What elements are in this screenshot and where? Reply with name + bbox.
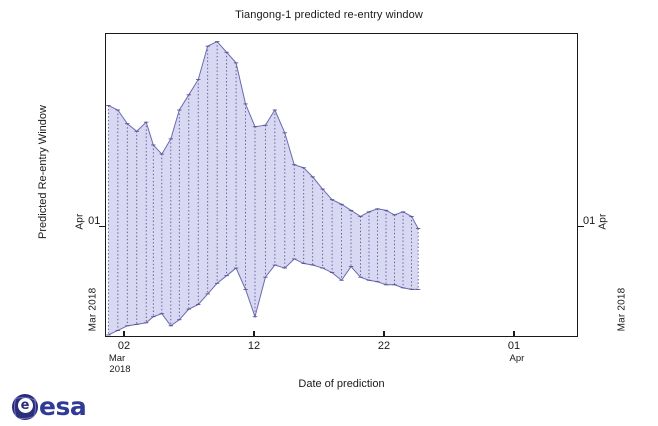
y-tick-right-apr: 01Apr (583, 215, 611, 227)
y-tick-left-mar-month: Mar 2018 (87, 288, 98, 332)
uncertainty-band (108, 42, 418, 335)
y-tick-left-apr-month: Apr (75, 213, 86, 229)
esa-logo: e esa (12, 392, 108, 422)
reentry-window-band-svg (106, 34, 578, 337)
x-tick-day: 22 (378, 340, 390, 352)
y-tick-left-apr: Apr01 (72, 215, 100, 227)
esa-wordmark: esa (39, 394, 86, 420)
x-tick-label: 01Apr (484, 341, 544, 364)
y-tick-right-apr-month: Apr (598, 213, 609, 229)
x-tick-day: 02 (118, 340, 130, 352)
y-tick-right-mar: Mar 2018 (600, 303, 644, 315)
x-tick-day: 12 (248, 340, 260, 352)
x-tick-mark (383, 331, 384, 337)
y-tick-mark-right-apr (578, 226, 584, 227)
x-tick-mark (253, 331, 254, 337)
x-tick-mark (123, 331, 124, 337)
esa-e-letter: e (18, 398, 33, 413)
chart-figure: Tiangong-1 predicted re-entry window Pre… (0, 0, 658, 426)
y-axis-label: Predicted Re-entry Window (37, 52, 49, 292)
x-tick-label: 22 (354, 341, 414, 353)
x-tick-month: Apr (490, 353, 544, 365)
y-tick-right-apr-day: 01 (583, 215, 595, 227)
x-tick-mark (513, 331, 514, 337)
chart-title: Tiangong-1 predicted re-entry window (0, 9, 658, 21)
x-tick-year: 2018 (86, 364, 154, 376)
x-tick-month: Mar (80, 353, 154, 365)
y-tick-right-mar-month: Mar 2018 (616, 288, 627, 332)
x-axis-label: Date of prediction (105, 378, 578, 390)
plot-area (105, 33, 578, 337)
x-tick-day: 01 (508, 340, 520, 352)
x-tick-label: 12 (224, 341, 284, 353)
x-tick-label: 02Mar2018 (94, 341, 154, 376)
